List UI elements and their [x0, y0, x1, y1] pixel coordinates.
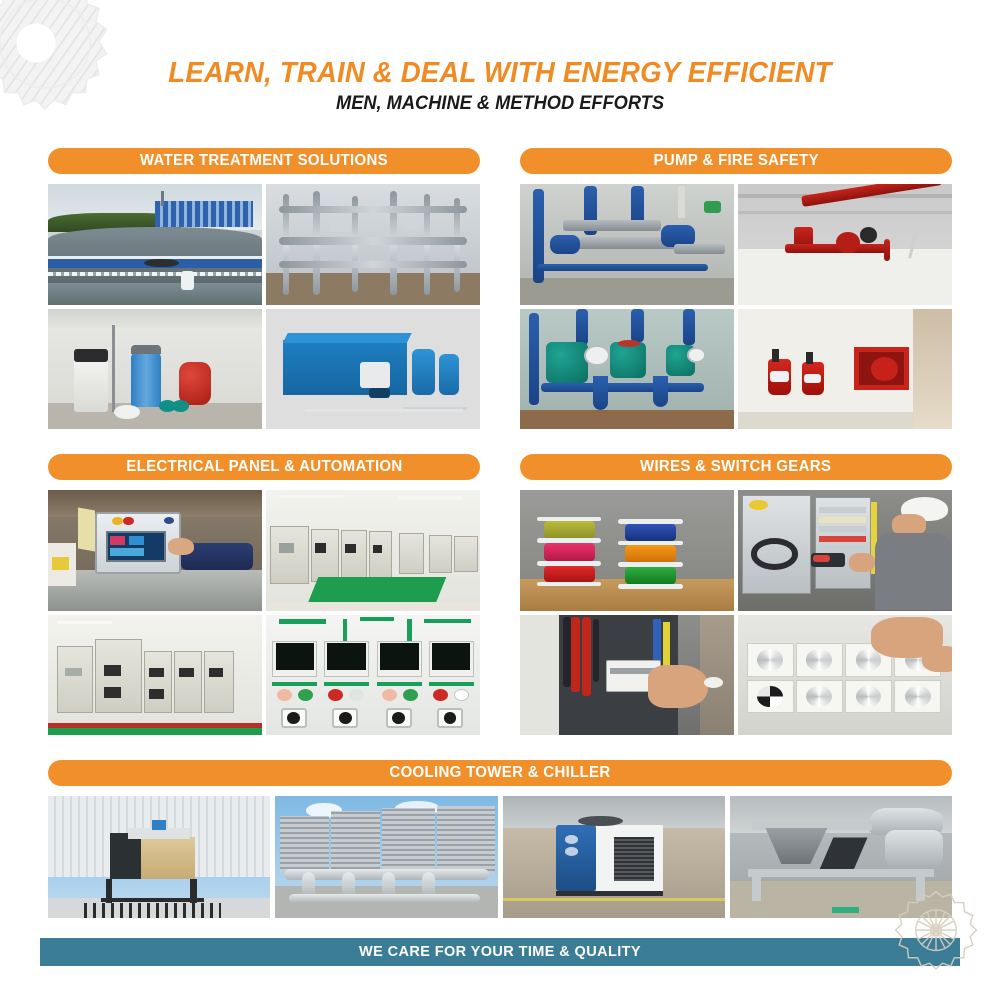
modular-wall-switches-photo: [738, 615, 952, 736]
page-header: LEARN, TRAIN & DEAL WITH ENERGY EFFICIEN…: [0, 58, 1000, 114]
cable-spools-photo: [520, 490, 734, 611]
section-title-pump-fire-safety[interactable]: PUMP & FIRE SAFETY: [520, 148, 952, 174]
switchgear-room-photo: [266, 490, 480, 611]
page-subtitle: MEN, MACHINE & METHOD EFFORTS: [20, 94, 980, 114]
fire-sprinkler-riser-photo: [738, 184, 952, 305]
mcb-installation-photo: [520, 615, 734, 736]
digital-meter-panel-photo: [266, 615, 480, 736]
cooling-tower-bank-photo: [275, 796, 497, 918]
section-electrical-panel-automation: ELECTRICAL PANEL & AUTOMATION: [48, 454, 480, 735]
section-cooling-tower-chiller: COOLING TOWER & CHILLER: [48, 760, 952, 918]
clarifier-tank-photo: [48, 184, 262, 305]
section-title-wires-switch-gears[interactable]: WIRES & SWITCH GEARS: [520, 454, 952, 480]
fiberglass-cooling-tower-photo: [48, 796, 270, 918]
chiller-skid-photo: [730, 796, 952, 918]
brochure-page: LEARN, TRAIN & DEAL WITH ENERGY EFFICIEN…: [0, 0, 1000, 1000]
page-title: LEARN, TRAIN & DEAL WITH ENERGY EFFICIEN…: [25, 58, 975, 88]
section-water-treatment: WATER TREATMENT SOLUTIONS: [48, 148, 480, 429]
section-wires-switch-gears: WIRES & SWITCH GEARS: [520, 454, 952, 735]
section-title-electrical-panel-automation[interactable]: ELECTRICAL PANEL & AUTOMATION: [48, 454, 480, 480]
section-title-water-treatment[interactable]: WATER TREATMENT SOLUTIONS: [48, 148, 480, 174]
ro-plant-piping-photo: [266, 184, 480, 305]
hmi-control-panel-photo: [48, 490, 262, 611]
footer-banner: WE CARE FOR YOUR TIME & QUALITY: [40, 938, 960, 966]
lt-panel-room-photo: [48, 615, 262, 736]
effluent-treatment-plant-render: [266, 309, 480, 430]
packaged-air-cooled-chiller-photo: [503, 796, 725, 918]
section-pump-fire-safety: PUMP & FIRE SAFETY: [520, 148, 952, 429]
electrician-testing-panel-photo: [738, 490, 952, 611]
blue-pump-valve-assembly-photo: [520, 184, 734, 305]
section-title-cooling-tower-chiller[interactable]: COOLING TOWER & CHILLER: [48, 760, 952, 786]
teal-booster-pumps-photo: [520, 309, 734, 430]
water-softener-plant-photo: [48, 309, 262, 430]
footer-text: WE CARE FOR YOUR TIME & QUALITY: [359, 944, 641, 960]
fire-extinguisher-hose-cabinet-photo: [738, 309, 952, 430]
